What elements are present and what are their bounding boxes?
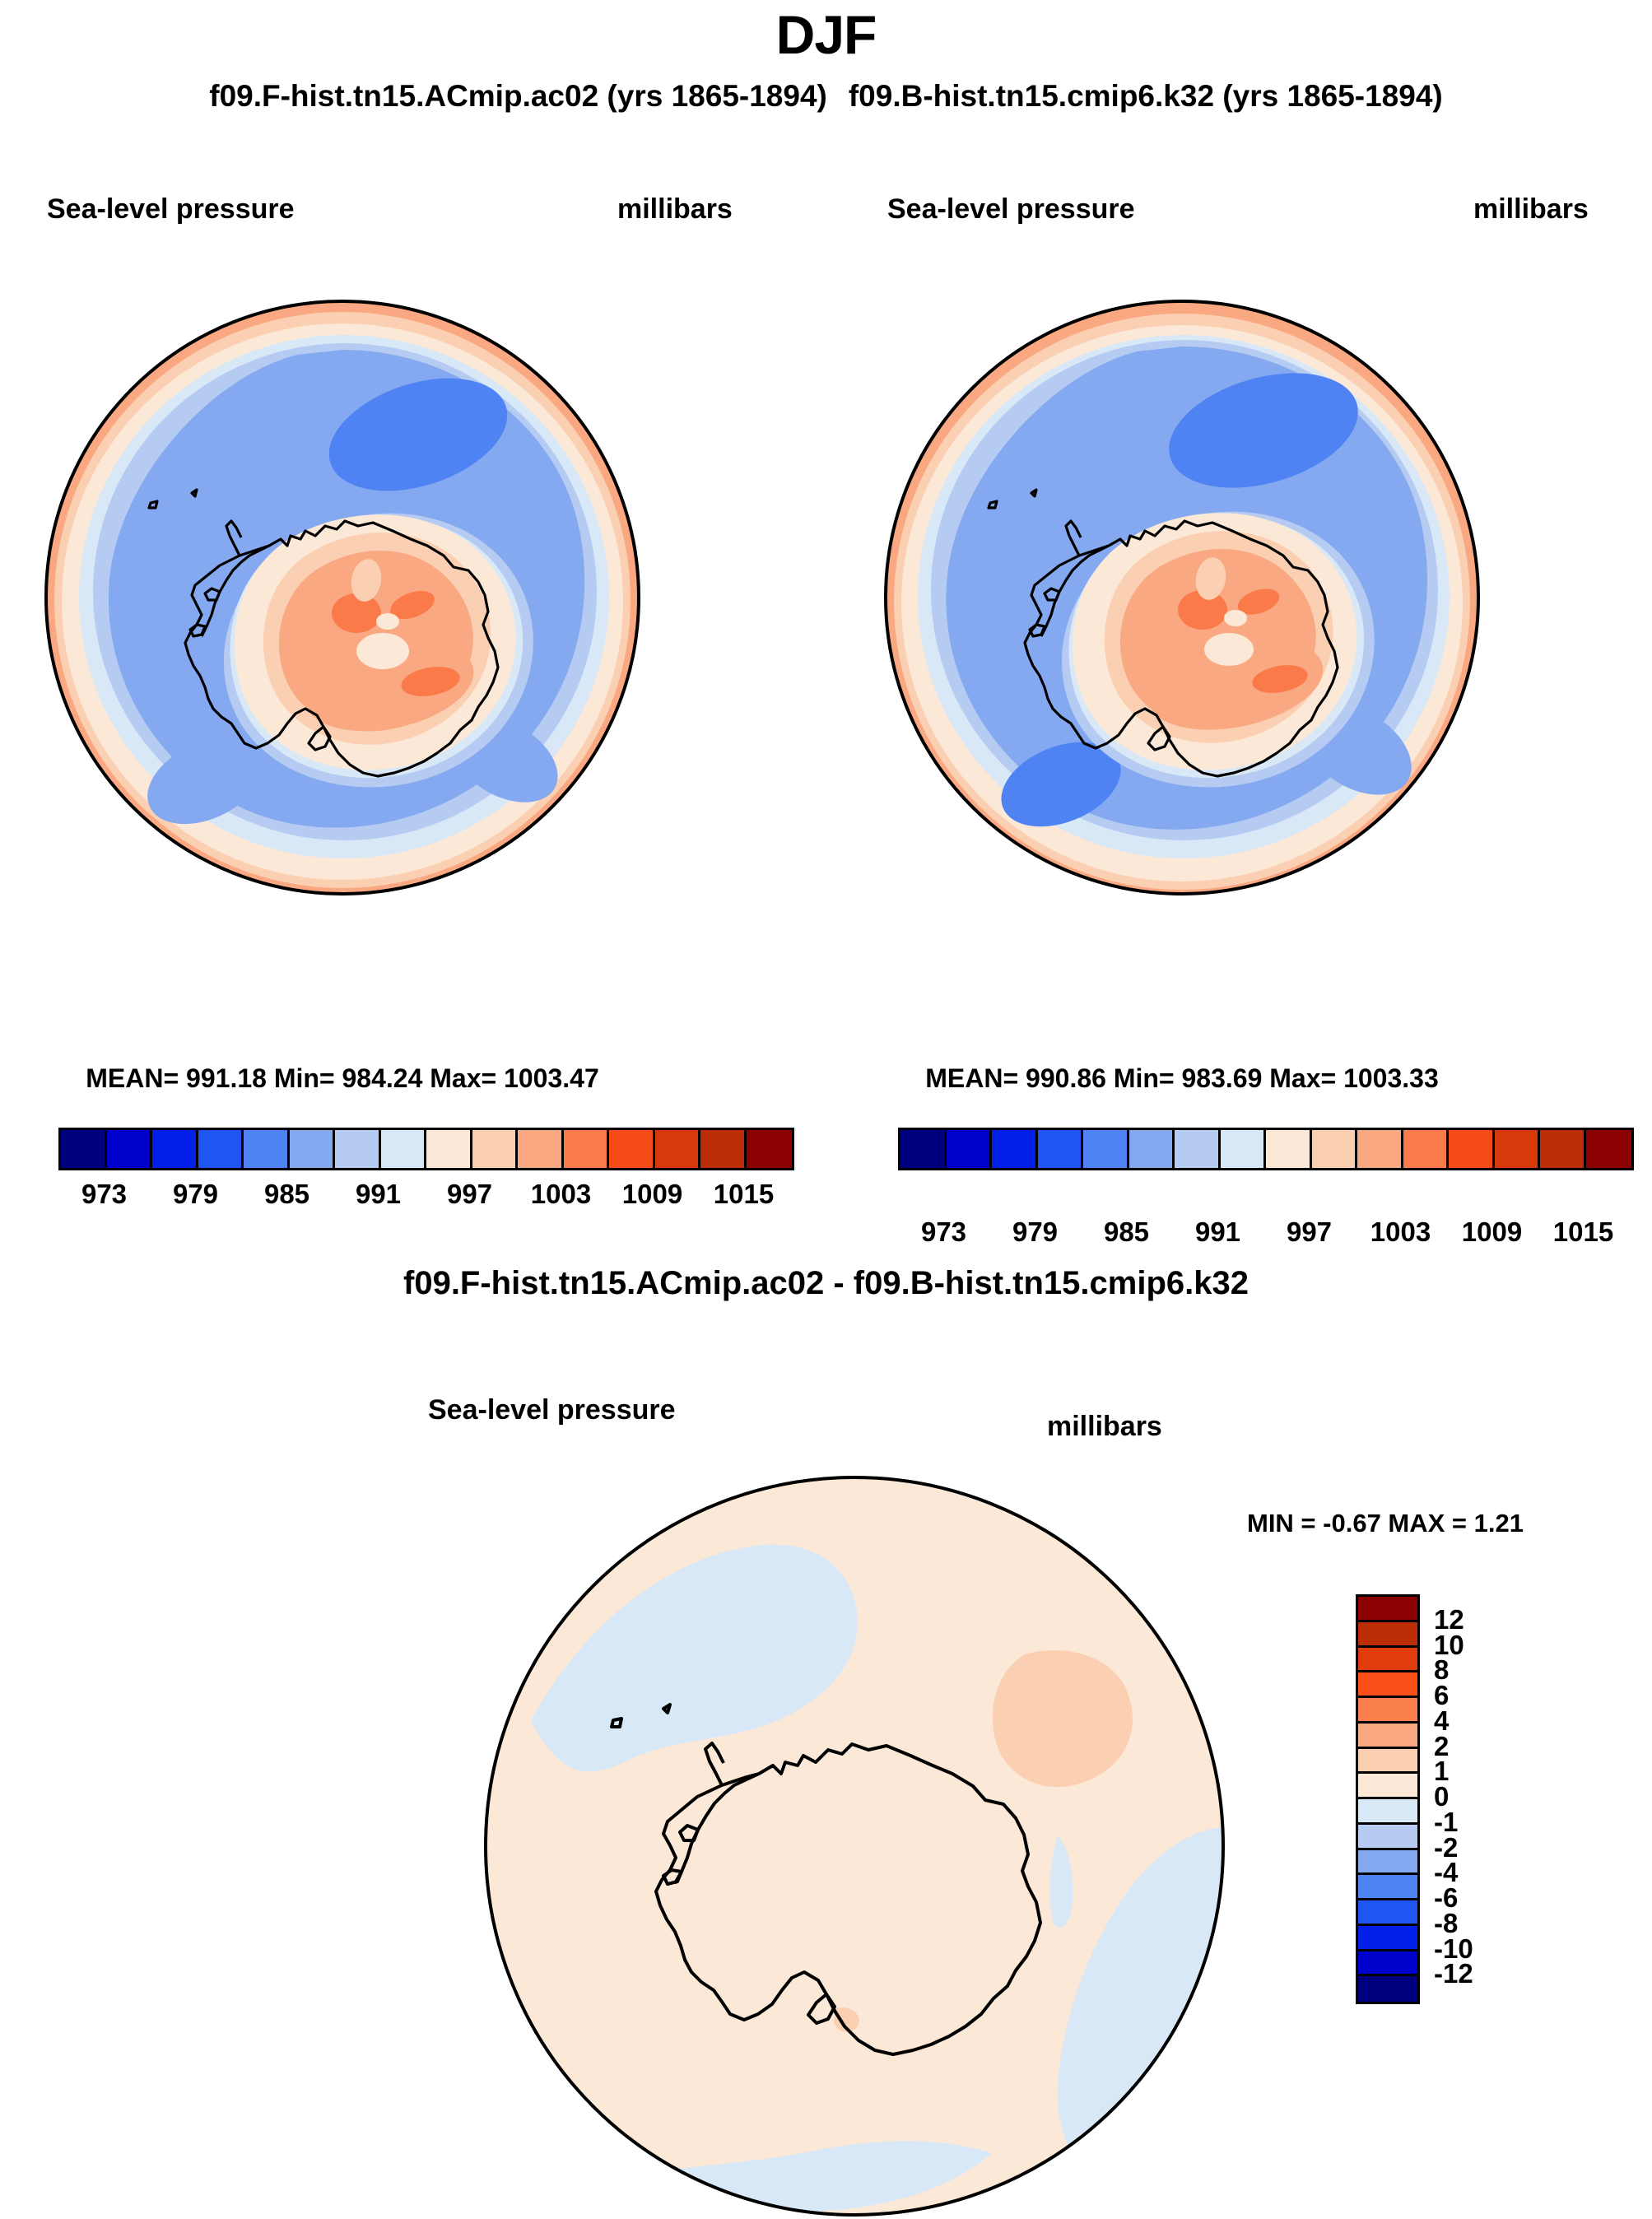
colorbar-tick-label: 1003: [531, 1179, 591, 1210]
colorbar-cell: [1449, 1130, 1495, 1168]
colorbar-tick-label: 997: [447, 1179, 492, 1210]
colorbar-cell: [1312, 1130, 1358, 1168]
colorbar-tick-label: 973: [81, 1179, 127, 1210]
right-panel-variable-label: Sea-level pressure: [887, 193, 1135, 226]
colorbar-tick-label: 985: [264, 1179, 309, 1210]
colorbar-tick-label: 1009: [1462, 1216, 1522, 1248]
diff-colorbar-cell: [1358, 1976, 1417, 2002]
colorbar-cell: [1540, 1130, 1586, 1168]
colorbar-tick-label: 979: [173, 1179, 218, 1210]
colorbar-tick-label: 997: [1287, 1216, 1332, 1248]
right-panel-units-label: millibars: [1473, 193, 1589, 226]
diff-colorbar-cell: [1358, 1597, 1417, 1622]
diff-colorbar-cell: [1358, 1774, 1417, 1799]
right-panel-map: [883, 299, 1481, 896]
right-map-svg: [883, 299, 1481, 896]
case-title-left: f09.F-hist.tn15.ACmip.ac02 (yrs 1865-189…: [209, 79, 827, 114]
colorbar-cell: [472, 1130, 519, 1168]
diff-colorbar-tick-label: -12: [1434, 1958, 1473, 1989]
colorbar-cell: [1266, 1130, 1312, 1168]
colorbar-cell: [518, 1130, 564, 1168]
colorbar-cell: [61, 1130, 107, 1168]
diff-colorbar-cell: [1358, 1926, 1417, 1952]
colorbar-cell: [564, 1130, 610, 1168]
colorbar-tick-label: 1015: [1553, 1216, 1613, 1248]
colorbar-cell: [1175, 1130, 1221, 1168]
colorbar-cell: [700, 1130, 747, 1168]
left-panel-units-label: millibars: [617, 193, 733, 226]
left-panel-stats: MEAN= 991.18 Min= 984.24 Max= 1003.47: [44, 1063, 641, 1094]
colorbar-cell: [335, 1130, 381, 1168]
colorbar-cell: [1586, 1130, 1632, 1168]
colorbar-cell: [1403, 1130, 1450, 1168]
diff-panel-units-label: millibars: [1047, 1411, 1162, 1443]
left-colorbar-labels: 973979985991997100310091015: [58, 1179, 789, 1216]
colorbar-cell: [426, 1130, 472, 1168]
diff-colorbar-cell: [1358, 1648, 1417, 1673]
colorbar-tick-label: 985: [1104, 1216, 1149, 1248]
difference-title: f09.F-hist.tn15.ACmip.ac02 - f09.B-hist.…: [0, 1265, 1652, 1302]
difference-colorbar-labels: 1210864210-1-2-4-6-8-10-12: [1434, 1594, 1566, 1999]
colorbar-cell: [655, 1130, 701, 1168]
right-colorbar-labels: 973979985991997100310091015: [898, 1216, 1629, 1254]
colorbar-cell: [1221, 1130, 1267, 1168]
colorbar-tick-label: 979: [1012, 1216, 1058, 1248]
left-panel-map: [44, 299, 641, 896]
colorbar-cell: [992, 1130, 1038, 1168]
colorbar-tick-label: 991: [356, 1179, 401, 1210]
case-title-right: f09.B-hist.tn15.cmip6.k32 (yrs 1865-1894…: [849, 79, 1443, 114]
colorbar-cell: [381, 1130, 427, 1168]
diff-panel-minmax: MIN = -0.67 MAX = 1.21: [1247, 1509, 1524, 1538]
colorbar-cell: [900, 1130, 947, 1168]
diff-colorbar-cell: [1358, 1875, 1417, 1900]
diff-colorbar-cell: [1358, 1799, 1417, 1825]
colorbar-tick-label: 991: [1195, 1216, 1240, 1248]
left-colorbar: [58, 1128, 794, 1170]
diff-colorbar-cell: [1358, 1850, 1417, 1876]
colorbar-cell: [1129, 1130, 1175, 1168]
figure-season-title: DJF: [0, 3, 1652, 66]
left-map-svg: [44, 299, 641, 896]
colorbar-cell: [198, 1130, 244, 1168]
right-colorbar: [898, 1128, 1634, 1170]
colorbar-cell: [290, 1130, 336, 1168]
diff-colorbar-cell: [1358, 1825, 1417, 1850]
case-titles-row: f09.F-hist.tn15.ACmip.ac02 (yrs 1865-189…: [0, 79, 1652, 114]
colorbar-tick-label: 1003: [1370, 1216, 1431, 1248]
colorbar-tick-label: 973: [921, 1216, 966, 1248]
diff-colorbar-cell: [1358, 1622, 1417, 1648]
diff-colorbar-cell: [1358, 1900, 1417, 1926]
left-panel-variable-label: Sea-level pressure: [47, 193, 295, 226]
diff-colorbar-cell: [1358, 1952, 1417, 1977]
colorbar-cell: [947, 1130, 993, 1168]
colorbar-cell: [1083, 1130, 1129, 1168]
colorbar-tick-label: 1015: [714, 1179, 774, 1210]
colorbar-cell: [609, 1130, 655, 1168]
colorbar-cell: [152, 1130, 198, 1168]
diff-map-svg: [482, 1473, 1227, 2219]
diff-colorbar-cell: [1358, 1724, 1417, 1749]
colorbar-cell: [107, 1130, 153, 1168]
diff-colorbar-cell: [1358, 1749, 1417, 1775]
colorbar-cell: [1357, 1130, 1403, 1168]
colorbar-cell: [747, 1130, 793, 1168]
diff-colorbar-cell: [1358, 1672, 1417, 1698]
colorbar-tick-label: 1009: [622, 1179, 682, 1210]
colorbar-cell: [1038, 1130, 1084, 1168]
diff-colorbar-cell: [1358, 1698, 1417, 1724]
difference-colorbar: [1356, 1594, 1420, 2004]
right-panel-stats: MEAN= 990.86 Min= 983.69 Max= 1003.33: [883, 1063, 1481, 1094]
colorbar-cell: [244, 1130, 290, 1168]
colorbar-cell: [1495, 1130, 1541, 1168]
diff-panel-variable-label: Sea-level pressure: [428, 1394, 676, 1426]
diff-panel-map: [482, 1473, 1227, 2219]
